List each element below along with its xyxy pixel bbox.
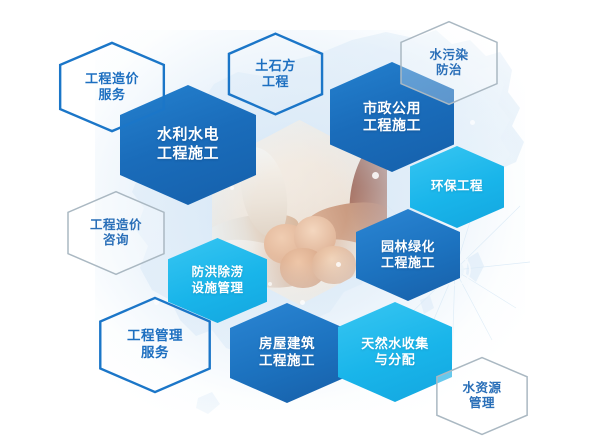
- hexagon-label-line: 房屋建筑: [259, 336, 315, 353]
- hexagon-label: 工程管理 服务: [127, 328, 183, 361]
- hexagon-label-line: 天然水收集: [361, 336, 429, 352]
- hexagon-label-line: 水资源: [462, 381, 501, 397]
- hexagon-engineering-cost-service[interactable]: 工程造价 服务: [58, 41, 166, 133]
- hexagon-label-line: 工程造价: [90, 218, 142, 234]
- hexagon-label: 环保工程: [431, 179, 483, 195]
- hexagon-water-resources-management[interactable]: 水资源 管理: [435, 356, 529, 436]
- hexagon-label-line: 市政公用: [363, 100, 421, 117]
- hexagon-label-line: 工程施工: [381, 255, 435, 271]
- hexagon-landscaping-greening-construction[interactable]: 园林绿化 工程施工: [356, 209, 460, 301]
- hexagon-label-line: 工程施工: [157, 145, 219, 164]
- hexagon-label-line: 水污染: [429, 48, 468, 64]
- hexagon-building-construction-engineering[interactable]: 房屋建筑 工程施工: [230, 303, 344, 403]
- hexagon-label-line: 服务: [85, 87, 139, 103]
- infographic-canvas: 工程造价 服务 土石方 工程 水利水电 工程施工 市政公用 工程施工: [0, 0, 600, 439]
- hexagon-label: 水利水电 工程施工: [157, 126, 219, 163]
- hexagon-label-line: 设施管理: [191, 281, 243, 297]
- hexagon-label-line: 管理: [462, 396, 501, 412]
- hexagon-label: 土石方 工程: [255, 58, 296, 90]
- hexagon-engineering-cost-consulting[interactable]: 工程造价 咨询: [66, 190, 166, 276]
- hexagon-label-line: 防洪除涝: [191, 265, 243, 281]
- hexagon-label-line: 与分配: [361, 352, 429, 368]
- hexagon-label: 园林绿化 工程施工: [381, 239, 435, 271]
- hexagon-engineering-management-service[interactable]: 工程管理 服务: [98, 296, 212, 394]
- hexagon-label-line: 工程施工: [259, 353, 315, 370]
- hexagon-label-line: 土石方: [255, 58, 296, 74]
- hexagon-label-line: 水利水电: [157, 126, 219, 145]
- hexagon-label-line: 服务: [127, 345, 183, 362]
- hexagon-label-line: 环保工程: [431, 179, 483, 195]
- hexagon-label-line: 工程造价: [85, 71, 139, 87]
- hexagon-water-pollution-control[interactable]: 水污染 防治: [399, 20, 499, 106]
- hexagon-label-line: 防治: [429, 63, 468, 79]
- hexagon-label: 防洪除涝 设施管理: [191, 265, 243, 296]
- hexagon-earthwork-engineering[interactable]: 土石方 工程: [227, 32, 324, 116]
- hexagon-label-line: 工程施工: [363, 117, 421, 134]
- hexagon-label: 工程造价 服务: [85, 71, 139, 103]
- hexagon-label-line: 工程管理: [127, 328, 183, 345]
- hexagon-label-line: 工程: [255, 74, 296, 90]
- hexagon-label-line: 咨询: [90, 233, 142, 249]
- hexagon-label: 工程造价 咨询: [90, 218, 142, 249]
- hexagon-label: 水污染 防治: [429, 48, 468, 79]
- hexagon-label: 水资源 管理: [462, 381, 501, 412]
- hexagon-label: 天然水收集 与分配: [361, 336, 429, 368]
- hexagon-label: 房屋建筑 工程施工: [259, 336, 315, 369]
- hexagon-label: 市政公用 工程施工: [363, 100, 421, 135]
- hexagon-label-line: 园林绿化: [381, 239, 435, 255]
